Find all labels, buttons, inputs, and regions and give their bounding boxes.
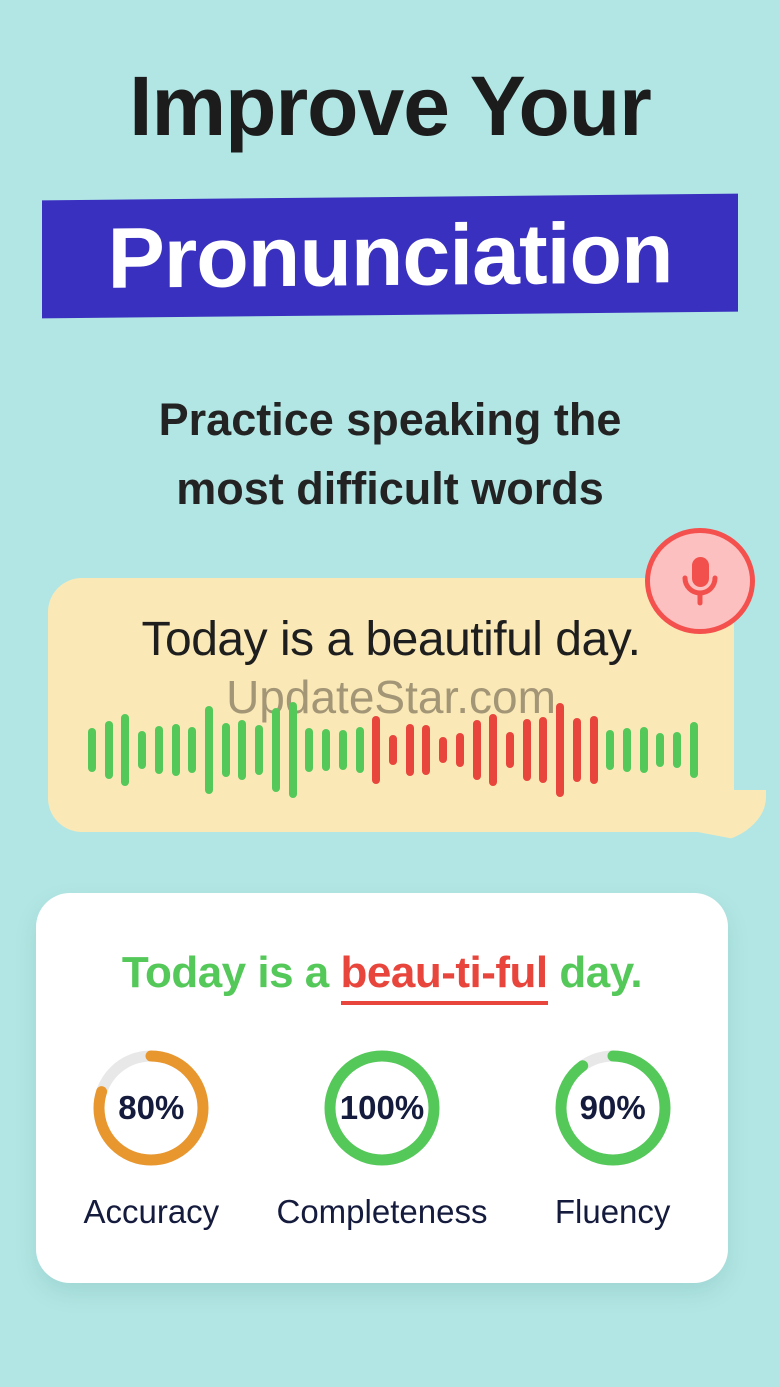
waveform-bar bbox=[238, 720, 246, 780]
waveform-bar bbox=[356, 727, 364, 773]
waveform-bar bbox=[172, 724, 180, 776]
waveform-bar bbox=[138, 731, 146, 769]
waveform-bar bbox=[539, 717, 547, 783]
waveform-bar bbox=[406, 724, 414, 776]
score-ring: 80% bbox=[88, 1045, 214, 1171]
waveform-bar bbox=[690, 722, 698, 778]
score-value: 80% bbox=[88, 1045, 214, 1171]
sentence-segment-mispronounced: beau-ti-ful bbox=[341, 948, 548, 1005]
practice-sentence: Today is a beautiful day. bbox=[48, 612, 734, 667]
score-item: 100%Completeness bbox=[272, 1045, 492, 1231]
waveform-bar bbox=[272, 708, 280, 792]
score-label: Completeness bbox=[277, 1193, 488, 1231]
waveform-bar bbox=[88, 728, 96, 772]
waveform-bar bbox=[456, 733, 464, 767]
waveform-bar bbox=[155, 726, 163, 774]
waveform-bar bbox=[673, 732, 681, 768]
microphone-icon bbox=[677, 553, 723, 609]
waveform-bar bbox=[623, 728, 631, 772]
waveform-bar bbox=[222, 723, 230, 777]
score-value: 100% bbox=[319, 1045, 445, 1171]
waveform-bar bbox=[489, 714, 497, 786]
waveform-bar bbox=[573, 718, 581, 782]
waveform-bar bbox=[289, 702, 297, 798]
score-ring: 90% bbox=[550, 1045, 676, 1171]
sentence-segment-correct: day. bbox=[548, 948, 643, 997]
waveform-bar bbox=[255, 725, 263, 775]
subtitle-line-1: Practice speaking the bbox=[0, 386, 780, 455]
waveform-bar bbox=[473, 720, 481, 780]
sentence-segment-correct: Today is a bbox=[122, 948, 341, 997]
waveform-bar bbox=[305, 728, 313, 772]
waveform-bar bbox=[389, 735, 397, 765]
waveform-bar bbox=[105, 721, 113, 779]
waveform-bar bbox=[556, 703, 564, 797]
waveform-bar bbox=[656, 733, 664, 767]
score-ring: 100% bbox=[319, 1045, 445, 1171]
waveform-bar bbox=[640, 727, 648, 773]
audio-waveform bbox=[88, 700, 698, 800]
waveform-bar bbox=[606, 730, 614, 770]
waveform-bar bbox=[523, 719, 531, 781]
waveform-bar bbox=[121, 714, 129, 786]
score-item: 80%Accuracy bbox=[41, 1045, 261, 1231]
score-ring-group: 80%Accuracy100%Completeness90%Fluency bbox=[36, 1045, 728, 1231]
headline-line-1: Improve Your bbox=[0, 62, 780, 150]
waveform-bar bbox=[205, 706, 213, 794]
subtitle-line-2: most difficult words bbox=[0, 455, 780, 524]
score-value: 90% bbox=[550, 1045, 676, 1171]
score-label: Accuracy bbox=[83, 1193, 219, 1231]
score-label: Fluency bbox=[555, 1193, 671, 1231]
waveform-bar bbox=[422, 725, 430, 775]
waveform-bar bbox=[322, 729, 330, 771]
waveform-bar bbox=[188, 727, 196, 773]
waveform-bar bbox=[339, 730, 347, 770]
subtitle: Practice speaking the most difficult wor… bbox=[0, 386, 780, 524]
score-item: 90%Fluency bbox=[503, 1045, 723, 1231]
waveform-bar bbox=[439, 737, 447, 763]
scored-sentence: Today is a beau-ti-ful day. bbox=[36, 948, 728, 998]
waveform-bar bbox=[590, 716, 598, 784]
waveform-bar bbox=[372, 716, 380, 784]
headline-line-2: Pronunciation bbox=[42, 194, 738, 319]
waveform-bar bbox=[506, 732, 514, 768]
record-button[interactable] bbox=[645, 528, 755, 634]
page-title: Improve Your bbox=[0, 62, 780, 150]
